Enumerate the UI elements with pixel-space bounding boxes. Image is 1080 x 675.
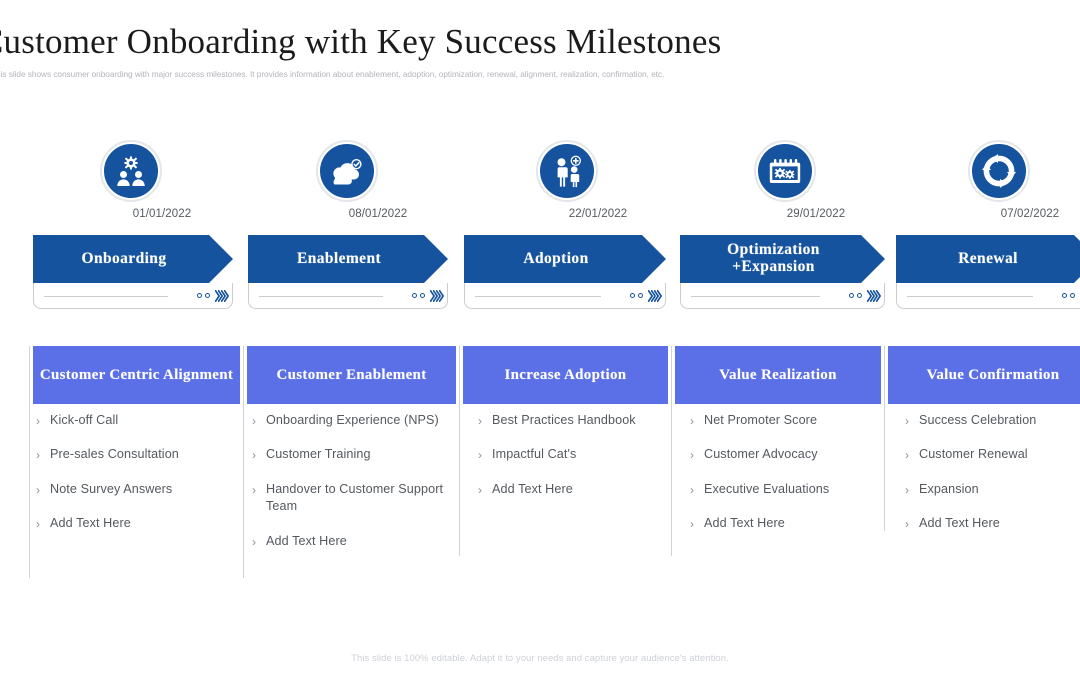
table-column-header[interactable]: Value Realization <box>675 346 881 404</box>
list-item-label: Customer Training <box>266 446 371 463</box>
list-item[interactable]: ›Add Text Here <box>478 481 658 498</box>
list-item-label: Kick-off Call <box>50 412 118 429</box>
connector-line <box>907 296 1033 297</box>
list-item-label: Note Survey Answers <box>50 481 172 498</box>
banner-arrow-shape: Optimization+Expansion <box>680 235 885 283</box>
chevron-right-bullet-icon: › <box>905 515 919 532</box>
table-column-body: ›Kick-off Call›Pre-sales Consultation›No… <box>36 412 236 550</box>
milestone-timeline: 01/01/2022Onboarding 08/01/2022Enablemen… <box>0 140 1080 330</box>
milestone-icon-badge <box>968 140 1030 202</box>
chevron-right-bullet-icon: › <box>905 481 919 498</box>
table-column-header[interactable]: Value Confirmation <box>888 346 1080 404</box>
chevron-right-bullet-icon: › <box>690 481 704 498</box>
list-item[interactable]: ›Net Promoter Score <box>690 412 875 429</box>
page-title: Customer Onboarding with Key Success Mil… <box>0 22 1080 62</box>
list-item-label: Add Text Here <box>704 515 785 532</box>
list-item-label: Net Promoter Score <box>704 412 817 429</box>
list-item[interactable]: ›Add Text Here <box>36 515 236 532</box>
list-item[interactable]: ›Onboarding Experience (NPS) <box>252 412 448 429</box>
connector-line <box>691 296 820 297</box>
table-column-body: ›Net Promoter Score›Customer Advocacy›Ex… <box>690 412 875 550</box>
milestone-banner[interactable]: Enablement <box>248 235 448 283</box>
list-item[interactable]: ›Add Text Here <box>690 515 875 532</box>
banner-arrow-shape: Enablement <box>248 235 448 283</box>
banner-connector-box <box>464 283 666 309</box>
banner-arrow-shape: Onboarding <box>33 235 233 283</box>
chevron-right-icon <box>876 290 880 301</box>
list-item-label: Impactful Cat's <box>492 446 576 463</box>
milestone-date: 01/01/2022 <box>82 208 242 220</box>
list-item-label: Expansion <box>919 481 979 498</box>
banner-arrow-shape: Adoption <box>464 235 666 283</box>
adult-child-plus-icon <box>540 144 594 198</box>
milestone-banner[interactable]: Adoption <box>464 235 666 283</box>
table-column-header-label: Value Realization <box>713 366 842 384</box>
chevron-right-icon <box>657 290 661 301</box>
list-item-label: Executive Evaluations <box>704 481 829 498</box>
list-item-label: Customer Advocacy <box>704 446 818 463</box>
table-column-divider <box>243 346 244 578</box>
milestone-label: Onboarding <box>82 251 185 268</box>
connector-dot <box>197 293 202 298</box>
connector-dot <box>630 293 635 298</box>
list-item-label: Customer Renewal <box>919 446 1028 463</box>
milestone-icon-badge <box>100 140 162 202</box>
connector-line <box>475 296 601 297</box>
table-column-body: ›Best Practices Handbook›Impactful Cat's… <box>478 412 658 515</box>
list-item[interactable]: ›Pre-sales Consultation <box>36 446 236 463</box>
milestone-label: Adoption <box>523 251 606 268</box>
chevron-right-bullet-icon: › <box>478 481 492 498</box>
connector-line <box>259 296 383 297</box>
list-item-label: Onboarding Experience (NPS) <box>266 412 439 429</box>
table-column-header-label: Increase Adoption <box>499 366 633 384</box>
list-item[interactable]: ›Customer Advocacy <box>690 446 875 463</box>
connector-line <box>44 296 168 297</box>
table-column-divider <box>29 346 30 578</box>
chevron-right-bullet-icon: › <box>36 481 50 498</box>
banner-connector-box <box>248 283 448 309</box>
connector-dot <box>412 293 417 298</box>
chevron-right-bullet-icon: › <box>252 412 266 429</box>
list-item-label: Handover to Customer Support Team <box>266 481 448 516</box>
chevron-right-bullet-icon: › <box>252 481 266 516</box>
table-column-header-label: Value Confirmation <box>921 366 1066 384</box>
table-column-divider <box>459 346 460 556</box>
milestone-icon-badge <box>536 140 598 202</box>
chevron-right-bullet-icon: › <box>478 412 492 429</box>
list-item[interactable]: ›Kick-off Call <box>36 412 236 429</box>
list-item[interactable]: ›Expansion <box>905 481 1080 498</box>
list-item-label: Add Text Here <box>492 481 573 498</box>
refresh-cycle-icon <box>972 144 1026 198</box>
list-item[interactable]: ›Best Practices Handbook <box>478 412 658 429</box>
chevron-right-bullet-icon: › <box>690 412 704 429</box>
list-item[interactable]: ›Note Survey Answers <box>36 481 236 498</box>
cloud-check-icon <box>320 144 374 198</box>
list-item[interactable]: ›Impactful Cat's <box>478 446 658 463</box>
connector-chevrons <box>868 290 880 301</box>
banner-connector-box <box>680 283 885 309</box>
connector-chevrons <box>649 290 661 301</box>
table-column-header[interactable]: Customer Centric Alignment <box>33 346 240 404</box>
milestone-icon-badge <box>316 140 378 202</box>
banner-arrow-shape: Renewal <box>896 235 1080 283</box>
milestone-banner[interactable]: Onboarding <box>33 235 233 283</box>
list-item-label: Add Text Here <box>50 515 131 532</box>
connector-dot <box>857 293 862 298</box>
list-item-label: Pre-sales Consultation <box>50 446 179 463</box>
list-item-label: Success Celebration <box>919 412 1036 429</box>
table-column-header-label: Customer Enablement <box>270 366 432 384</box>
list-item[interactable]: ›Add Text Here <box>905 515 1080 532</box>
list-item-label: Add Text Here <box>266 533 347 550</box>
milestone-label: Optimization+Expansion <box>727 242 838 275</box>
banner-connector-box <box>33 283 233 309</box>
table-column-header[interactable]: Increase Adoption <box>463 346 668 404</box>
chevron-right-bullet-icon: › <box>690 446 704 463</box>
table-column-body: ›Success Celebration›Customer Renewal›Ex… <box>905 412 1080 550</box>
chevron-right-bullet-icon: › <box>252 446 266 463</box>
milestone-date: 29/01/2022 <box>736 208 896 220</box>
chevron-right-bullet-icon: › <box>36 446 50 463</box>
table-column-divider <box>884 346 885 531</box>
milestone-banner[interactable]: Renewal <box>896 235 1080 283</box>
chevron-right-bullet-icon: › <box>36 412 50 429</box>
milestone-banner[interactable]: Optimization+Expansion <box>680 235 885 283</box>
connector-dot <box>420 293 425 298</box>
milestone-date: 08/01/2022 <box>298 208 458 220</box>
list-item[interactable]: ›Executive Evaluations <box>690 481 875 498</box>
list-item[interactable]: ›Add Text Here <box>252 533 448 550</box>
page-subtitle: This slide shows consumer onboarding wit… <box>0 69 1080 79</box>
connector-dot <box>849 293 854 298</box>
table-column-header-label: Customer Centric Alignment <box>34 366 239 384</box>
connector-dot <box>1070 293 1075 298</box>
chevron-right-icon <box>224 290 228 301</box>
connector-chevrons <box>431 290 443 301</box>
milestone-date: 22/01/2022 <box>518 208 678 220</box>
milestone-date: 07/02/2022 <box>950 208 1080 220</box>
table-column-divider <box>671 346 672 556</box>
banner-connector-box <box>896 283 1080 309</box>
chevron-right-bullet-icon: › <box>36 515 50 532</box>
list-item-label: Add Text Here <box>919 515 1000 532</box>
list-item[interactable]: ›Customer Training <box>252 446 448 463</box>
chevron-right-bullet-icon: › <box>690 515 704 532</box>
chevron-right-icon <box>439 290 443 301</box>
list-item[interactable]: ›Customer Renewal <box>905 446 1080 463</box>
calendar-gears-icon <box>758 144 812 198</box>
chevron-right-bullet-icon: › <box>905 412 919 429</box>
chevron-right-bullet-icon: › <box>905 446 919 463</box>
connector-chevrons <box>216 290 228 301</box>
milestone-label: Enablement <box>297 251 399 268</box>
chevron-right-bullet-icon: › <box>478 446 492 463</box>
table-column-body: ›Onboarding Experience (NPS)›Customer Tr… <box>252 412 448 567</box>
list-item[interactable]: ›Handover to Customer Support Team <box>252 481 448 516</box>
connector-dot <box>205 293 210 298</box>
chevron-right-bullet-icon: › <box>252 533 266 550</box>
list-item-label: Best Practices Handbook <box>492 412 636 429</box>
footer-note: This slide is 100% editable. Adapt it to… <box>0 653 1080 664</box>
milestone-label: Renewal <box>958 251 1036 268</box>
slide-canvas: Customer Onboarding with Key Success Mil… <box>0 0 1080 675</box>
list-item[interactable]: ›Success Celebration <box>905 412 1080 429</box>
milestone-icon-badge <box>754 140 816 202</box>
table-column-header[interactable]: Customer Enablement <box>247 346 456 404</box>
connector-dot <box>1062 293 1067 298</box>
people-gear-icon <box>104 144 158 198</box>
connector-dot <box>638 293 643 298</box>
